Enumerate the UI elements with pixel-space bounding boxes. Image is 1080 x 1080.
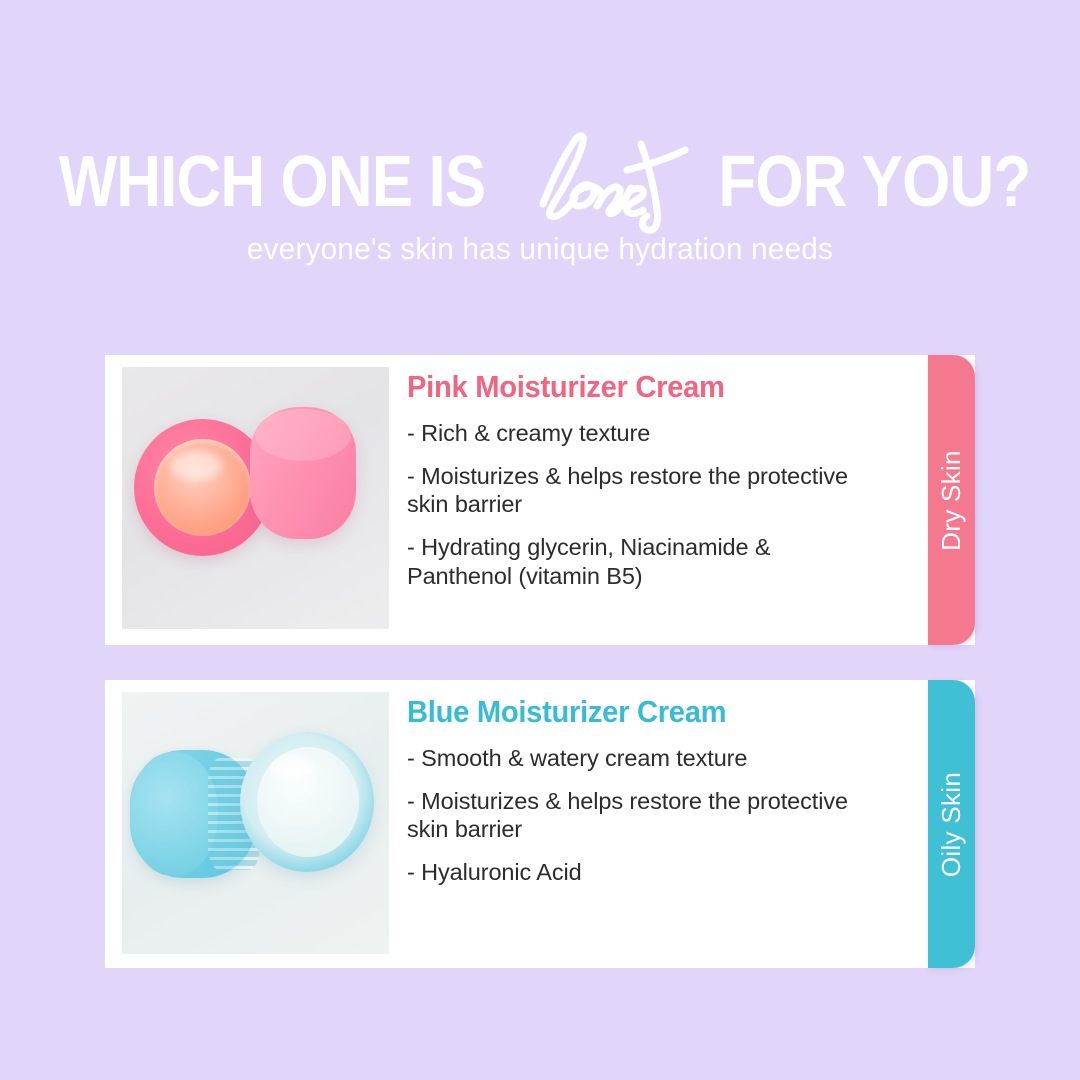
product-card-pink[interactable]: Pink Moisturizer Cream - Rich & creamy t… [105,355,975,645]
pink-bullet-3: - Hydrating glycerin, Niacinamide & Pant… [407,533,877,590]
subtitle: everyone's skin has unique hydration nee… [22,231,1059,267]
header: WHICH ONE IS FOR YOU? everyone's skin ha… [0,0,1080,330]
product-card-list: Pink Moisturizer Cream - Rich & creamy t… [0,355,1080,968]
blue-bullet-2: - Moisturizes & helps restore the protec… [407,787,877,844]
blue-card-text: Blue Moisturizer Cream - Smooth & watery… [389,680,975,887]
blue-cream-highlight [270,756,314,780]
pink-product-title: Pink Moisturizer Cream [407,369,916,405]
pink-card-text: Pink Moisturizer Cream - Rich & creamy t… [389,355,975,590]
pink-bullet-1: - Rich & creamy texture [407,419,877,448]
dry-skin-tab[interactable]: Dry Skin [928,355,975,645]
pink-moisturizer-jar-photo [122,367,389,629]
oily-skin-tab-label: Oily Skin [936,771,967,876]
product-card-blue[interactable]: Blue Moisturizer Cream - Smooth & watery… [105,680,975,968]
blue-bullet-1: - Smooth & watery cream texture [407,744,877,773]
blue-bullet-3: - Hyaluronic Acid [407,858,877,887]
headline-part-2: FOR YOU? [718,146,1030,218]
blue-moisturizer-jar-photo [122,692,389,954]
headline-part-1: WHICH ONE IS [59,146,486,218]
dry-skin-tab-label: Dry Skin [936,450,967,551]
headline-script-word-best [527,134,695,230]
headline: WHICH ONE IS FOR YOU? [0,134,1080,230]
blue-jar-lid-face [130,752,218,876]
oily-skin-tab[interactable]: Oily Skin [928,680,975,968]
pink-bullet-2: - Moisturizes & helps restore the protec… [407,462,877,519]
blue-product-title: Blue Moisturizer Cream [407,694,916,730]
pink-cream-highlight [170,451,222,481]
pink-jar-lid-top [255,409,351,461]
